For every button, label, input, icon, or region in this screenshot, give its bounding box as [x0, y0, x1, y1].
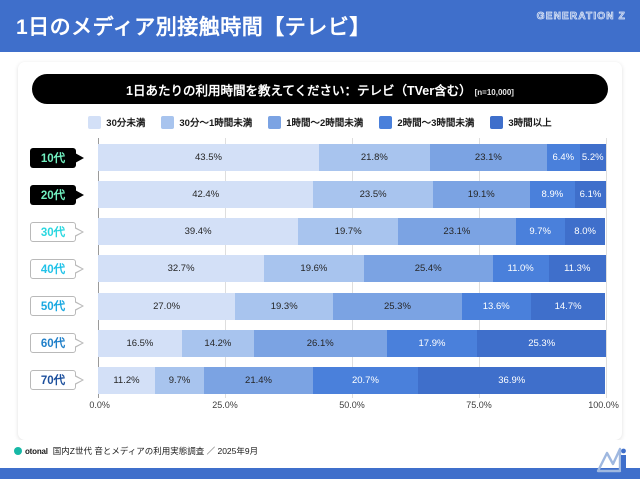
x-axis-tick-label: 100.0% — [588, 400, 619, 410]
legend-swatch-icon — [490, 116, 503, 129]
bar-segment[interactable]: 16.5% — [98, 330, 182, 357]
question-banner: 1日あたりの利用時間を教えてください：テレビ（TVer含む） [n=10,000… — [32, 74, 608, 104]
bar-segment[interactable]: 13.6% — [462, 293, 531, 320]
legend-item[interactable]: 2時間〜3時間未満 — [379, 115, 474, 129]
row-label-slot: 50代 — [30, 293, 98, 320]
bar-segment[interactable]: 23.1% — [430, 144, 547, 171]
bar-row[interactable]: 32.7%19.6%25.4%11.0%11.3% — [98, 255, 606, 282]
age-group-tag[interactable]: 60代 — [30, 333, 76, 353]
page-title: 1日のメディア別接触時間【テレビ】 — [16, 11, 371, 41]
page-footer: otonal 国内Z世代 音とメディアの利用実態調査 ／ 2025年9月 — [0, 440, 640, 479]
x-axis-tick-label: 0.0% — [89, 400, 110, 410]
brand-generation-z: GENERATION Z — [537, 11, 626, 22]
bar-row[interactable]: 16.5%14.2%26.1%17.9%25.3% — [98, 330, 606, 357]
bar-segment[interactable]: 32.7% — [98, 255, 264, 282]
plot-region: 43.5%21.8%23.1%6.4%5.2%42.4%23.5%19.1%8.… — [98, 138, 606, 398]
x-axis-tick-label: 75.0% — [466, 400, 492, 410]
row-label-slot: 20代 — [30, 181, 98, 208]
legend-label: 2時間〜3時間未満 — [397, 115, 474, 129]
bar-segment[interactable]: 19.1% — [433, 181, 530, 208]
bar-segment[interactable]: 17.9% — [387, 330, 478, 357]
bar-row[interactable]: 43.5%21.8%23.1%6.4%5.2% — [98, 144, 606, 171]
footer-accent-bar — [0, 468, 640, 479]
x-axis-tick-label: 25.0% — [212, 400, 238, 410]
legend-swatch-icon — [268, 116, 281, 129]
age-group-tag[interactable]: 50代 — [30, 296, 76, 316]
legend-label: 1時間〜2時間未満 — [286, 115, 363, 129]
bar-segment[interactable]: 19.3% — [235, 293, 333, 320]
legend-swatch-icon — [379, 116, 392, 129]
bar-segment[interactable]: 36.9% — [418, 367, 605, 394]
bar-segment[interactable]: 26.1% — [254, 330, 387, 357]
otonal-logo: otonal — [14, 447, 48, 456]
chart-area: 10代20代30代40代50代60代70代 43.5%21.8%23.1%6.4… — [30, 138, 610, 428]
age-group-tag[interactable]: 30代 — [30, 222, 76, 242]
row-label-column: 10代20代30代40代50代60代70代 — [30, 138, 98, 398]
age-group-tag[interactable]: 10代 — [30, 148, 76, 168]
row-label-slot: 30代 — [30, 218, 98, 245]
age-group-tag[interactable]: 20代 — [30, 185, 76, 205]
bar-segment[interactable]: 39.4% — [98, 218, 298, 245]
row-label-slot: 60代 — [30, 330, 98, 357]
sample-size-label: [n=10,000] — [475, 88, 514, 97]
legend-item[interactable]: 3時間以上 — [490, 115, 551, 129]
bar-segment[interactable]: 8.9% — [530, 181, 575, 208]
bar-segment[interactable]: 14.7% — [531, 293, 606, 320]
legend-item[interactable]: 30分〜1時間未満 — [161, 115, 252, 129]
legend-label: 30分〜1時間未満 — [179, 115, 252, 129]
age-group-tag[interactable]: 40代 — [30, 259, 76, 279]
x-axis: 0.0%25.0%50.0%75.0%100.0% — [98, 400, 606, 420]
bar-row[interactable]: 39.4%19.7%23.1%9.7%8.0% — [98, 218, 606, 245]
bar-segment[interactable]: 6.1% — [575, 181, 606, 208]
otonal-logo-icon — [14, 447, 22, 455]
page-header: 1日のメディア別接触時間【テレビ】 GENERATION Z — [0, 0, 640, 52]
gridline — [606, 138, 607, 398]
bar-segment[interactable]: 8.0% — [565, 218, 606, 245]
legend-item[interactable]: 1時間〜2時間未満 — [268, 115, 363, 129]
bar-segment[interactable]: 20.7% — [313, 367, 418, 394]
legend-item[interactable]: 30分未満 — [88, 115, 145, 129]
legend-swatch-icon — [88, 116, 101, 129]
bar-segment[interactable]: 42.4% — [98, 181, 313, 208]
age-group-tag[interactable]: 70代 — [30, 370, 76, 390]
legend-label: 30分未満 — [106, 115, 145, 129]
source-caption: 国内Z世代 音とメディアの利用実態調査 ／ 2025年9月 — [53, 445, 258, 457]
chart-card: 1日あたりの利用時間を教えてください：テレビ（TVer含む） [n=10,000… — [18, 62, 622, 440]
legend-label: 3時間以上 — [508, 115, 551, 129]
bar-rows: 43.5%21.8%23.1%6.4%5.2%42.4%23.5%19.1%8.… — [98, 138, 606, 398]
bar-row[interactable]: 11.2%9.7%21.4%20.7%36.9% — [98, 367, 606, 394]
chart-legend: 30分未満30分〜1時間未満1時間〜2時間未満2時間〜3時間未満3時間以上 — [30, 114, 610, 130]
bar-segment[interactable]: 19.6% — [264, 255, 364, 282]
m-logo-icon — [596, 447, 630, 473]
otonal-logo-text: otonal — [25, 447, 48, 456]
question-text: 1日あたりの利用時間を教えてください：テレビ（TVer含む） — [126, 80, 472, 99]
bar-row[interactable]: 27.0%19.3%25.3%13.6%14.7% — [98, 293, 606, 320]
bar-segment[interactable]: 6.4% — [547, 144, 580, 171]
bar-segment[interactable]: 23.1% — [398, 218, 515, 245]
bar-segment[interactable]: 11.2% — [98, 367, 155, 394]
bar-segment[interactable]: 25.3% — [333, 293, 462, 320]
screenshot-root: 1日のメディア別接触時間【テレビ】 GENERATION Z 1日あたりの利用時… — [0, 0, 640, 479]
row-label-slot: 70代 — [30, 367, 98, 394]
bar-segment[interactable]: 9.7% — [516, 218, 565, 245]
row-label-slot: 10代 — [30, 144, 98, 171]
bar-segment[interactable]: 25.4% — [364, 255, 493, 282]
legend-swatch-icon — [161, 116, 174, 129]
bar-segment[interactable]: 43.5% — [98, 144, 319, 171]
bar-segment[interactable]: 14.2% — [182, 330, 254, 357]
row-label-slot: 40代 — [30, 255, 98, 282]
bar-segment[interactable]: 11.0% — [493, 255, 549, 282]
bar-row[interactable]: 42.4%23.5%19.1%8.9%6.1% — [98, 181, 606, 208]
bar-segment[interactable]: 9.7% — [155, 367, 204, 394]
bar-segment[interactable]: 23.5% — [313, 181, 432, 208]
bar-segment[interactable]: 27.0% — [98, 293, 235, 320]
bar-segment[interactable]: 25.3% — [477, 330, 606, 357]
bar-segment[interactable]: 5.2% — [580, 144, 606, 171]
bar-segment[interactable]: 21.4% — [204, 367, 313, 394]
x-axis-tick-label: 50.0% — [339, 400, 365, 410]
bar-segment[interactable]: 21.8% — [319, 144, 430, 171]
bar-segment[interactable]: 11.3% — [549, 255, 606, 282]
bar-segment[interactable]: 19.7% — [298, 218, 398, 245]
